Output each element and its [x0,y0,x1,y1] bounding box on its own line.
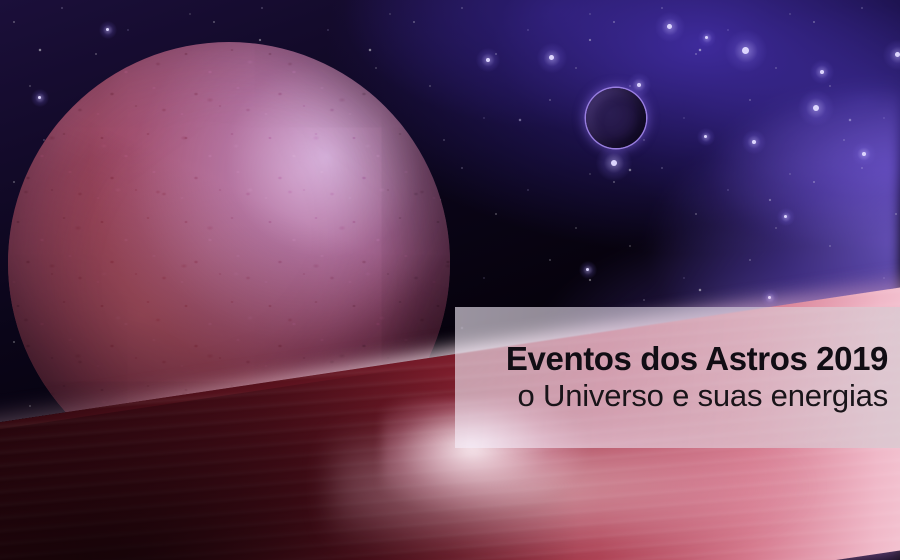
bright-star [637,83,641,87]
page-title: Eventos dos Astros 2019 [506,342,888,377]
bright-star [895,52,900,57]
bright-star [667,24,672,29]
small-moon-rim-light [584,86,648,150]
small-moon [586,88,646,148]
bright-star [813,105,819,111]
bottom-haze [330,430,900,560]
page-subtitle: o Universo e suas energias [518,380,888,413]
bright-star [549,55,554,60]
bright-star [486,58,490,62]
bright-star [611,160,617,166]
bright-star [704,135,707,138]
bright-star [768,296,771,299]
bright-star [742,47,749,54]
bright-star [705,36,708,39]
bright-star [784,215,787,218]
bright-star [820,70,824,74]
bright-star [862,152,866,156]
bright-star [752,140,756,144]
bright-star [586,268,589,271]
space-banner: Eventos dos Astros 2019 o Universo e sua… [0,0,900,560]
title-text-block: Eventos dos Astros 2019 o Universo e sua… [0,307,900,448]
